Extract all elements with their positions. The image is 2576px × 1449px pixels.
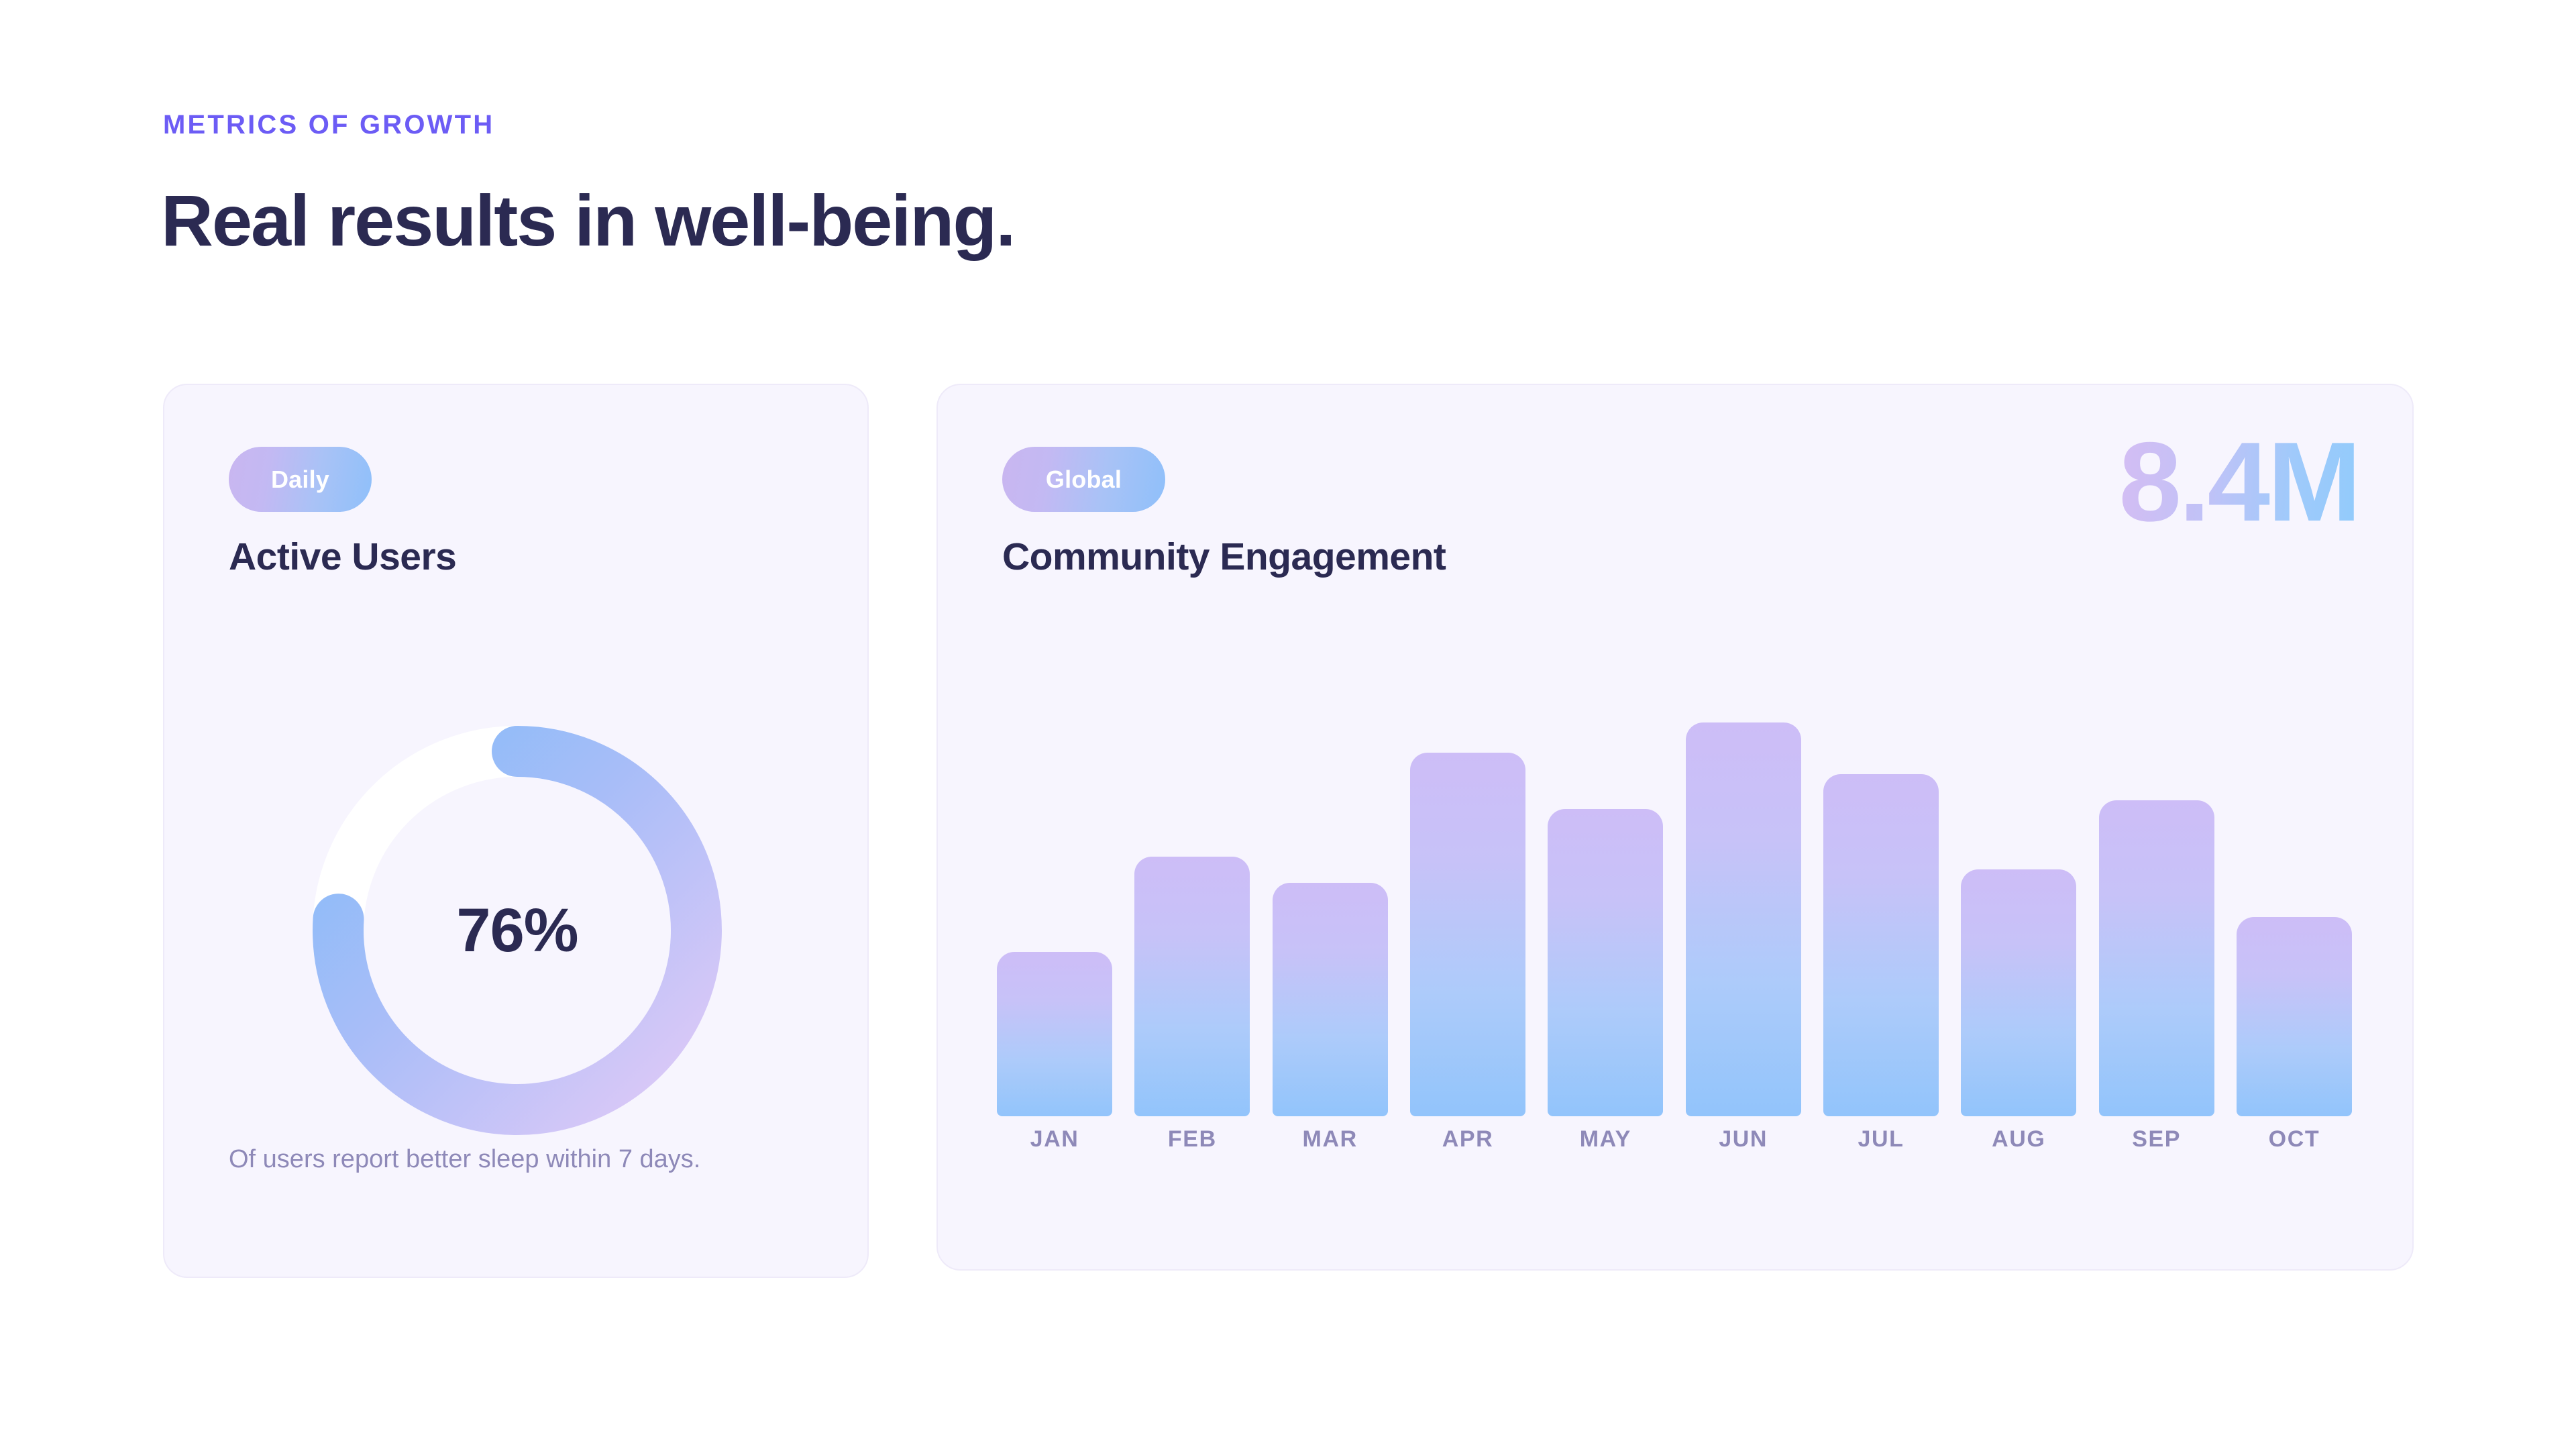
badge-global: Global <box>1002 447 1165 512</box>
community-engagement-card: Global Community Engagement 8.4M JANFEBM… <box>936 384 2414 1271</box>
month-label-jul: JUL <box>1823 1126 1939 1152</box>
month-label-jun: JUN <box>1686 1126 1801 1152</box>
bar-chart-axis-labels: JANFEBMARAPRMAYJUNJULAUGSEPOCT <box>997 1126 2352 1152</box>
month-label-sep: SEP <box>2099 1126 2214 1152</box>
month-label-aug: AUG <box>1961 1126 2076 1152</box>
bar-may <box>1548 809 1663 1116</box>
bar-apr <box>1410 753 1525 1116</box>
donut-value-label: 76% <box>307 720 727 1140</box>
bar-mar <box>1273 883 1388 1116</box>
month-label-oct: OCT <box>2237 1126 2352 1152</box>
active-users-title: Active Users <box>229 538 456 576</box>
bar-column <box>2237 684 2352 1116</box>
month-label-feb: FEB <box>1134 1126 1250 1152</box>
month-label-mar: MAR <box>1273 1126 1388 1152</box>
bar-column <box>1686 684 1801 1116</box>
bar-aug <box>1961 869 2076 1116</box>
bar-jan <box>997 952 1112 1116</box>
section-eyebrow: METRICS OF GROWTH <box>163 111 494 138</box>
active-users-footnote: Of users report better sleep within 7 da… <box>229 1142 792 1177</box>
community-engagement-title: Community Engagement <box>1002 538 1446 576</box>
month-label-may: MAY <box>1548 1126 1663 1152</box>
active-users-donut: 76% <box>307 720 727 1140</box>
bar-jun <box>1686 722 1801 1116</box>
engagement-bar-chart: JANFEBMARAPRMAYJUNJULAUGSEPOCT <box>997 684 2352 1220</box>
bar-column <box>1273 684 1388 1116</box>
bar-column <box>1961 684 2076 1116</box>
badge-daily: Daily <box>229 447 372 512</box>
bar-chart-bars <box>997 684 2352 1116</box>
bar-column <box>1548 684 1663 1116</box>
bar-column <box>1134 684 1250 1116</box>
bar-column <box>1823 684 1939 1116</box>
bar-column <box>1410 684 1525 1116</box>
month-label-apr: APR <box>1410 1126 1525 1152</box>
bar-column <box>2099 684 2214 1116</box>
page-root: METRICS OF GROWTH Real results in well-b… <box>0 0 2576 1449</box>
bar-sep <box>2099 800 2214 1116</box>
page-title: Real results in well-being. <box>161 182 1014 258</box>
month-label-jan: JAN <box>997 1126 1112 1152</box>
bar-oct <box>2237 917 2352 1116</box>
engagement-total-stat: 8.4M <box>2119 420 2359 544</box>
bar-feb <box>1134 857 1250 1116</box>
bar-column <box>997 684 1112 1116</box>
active-users-card: Daily Active Users 76% Of users report b… <box>163 384 869 1278</box>
bar-jul <box>1823 774 1939 1116</box>
